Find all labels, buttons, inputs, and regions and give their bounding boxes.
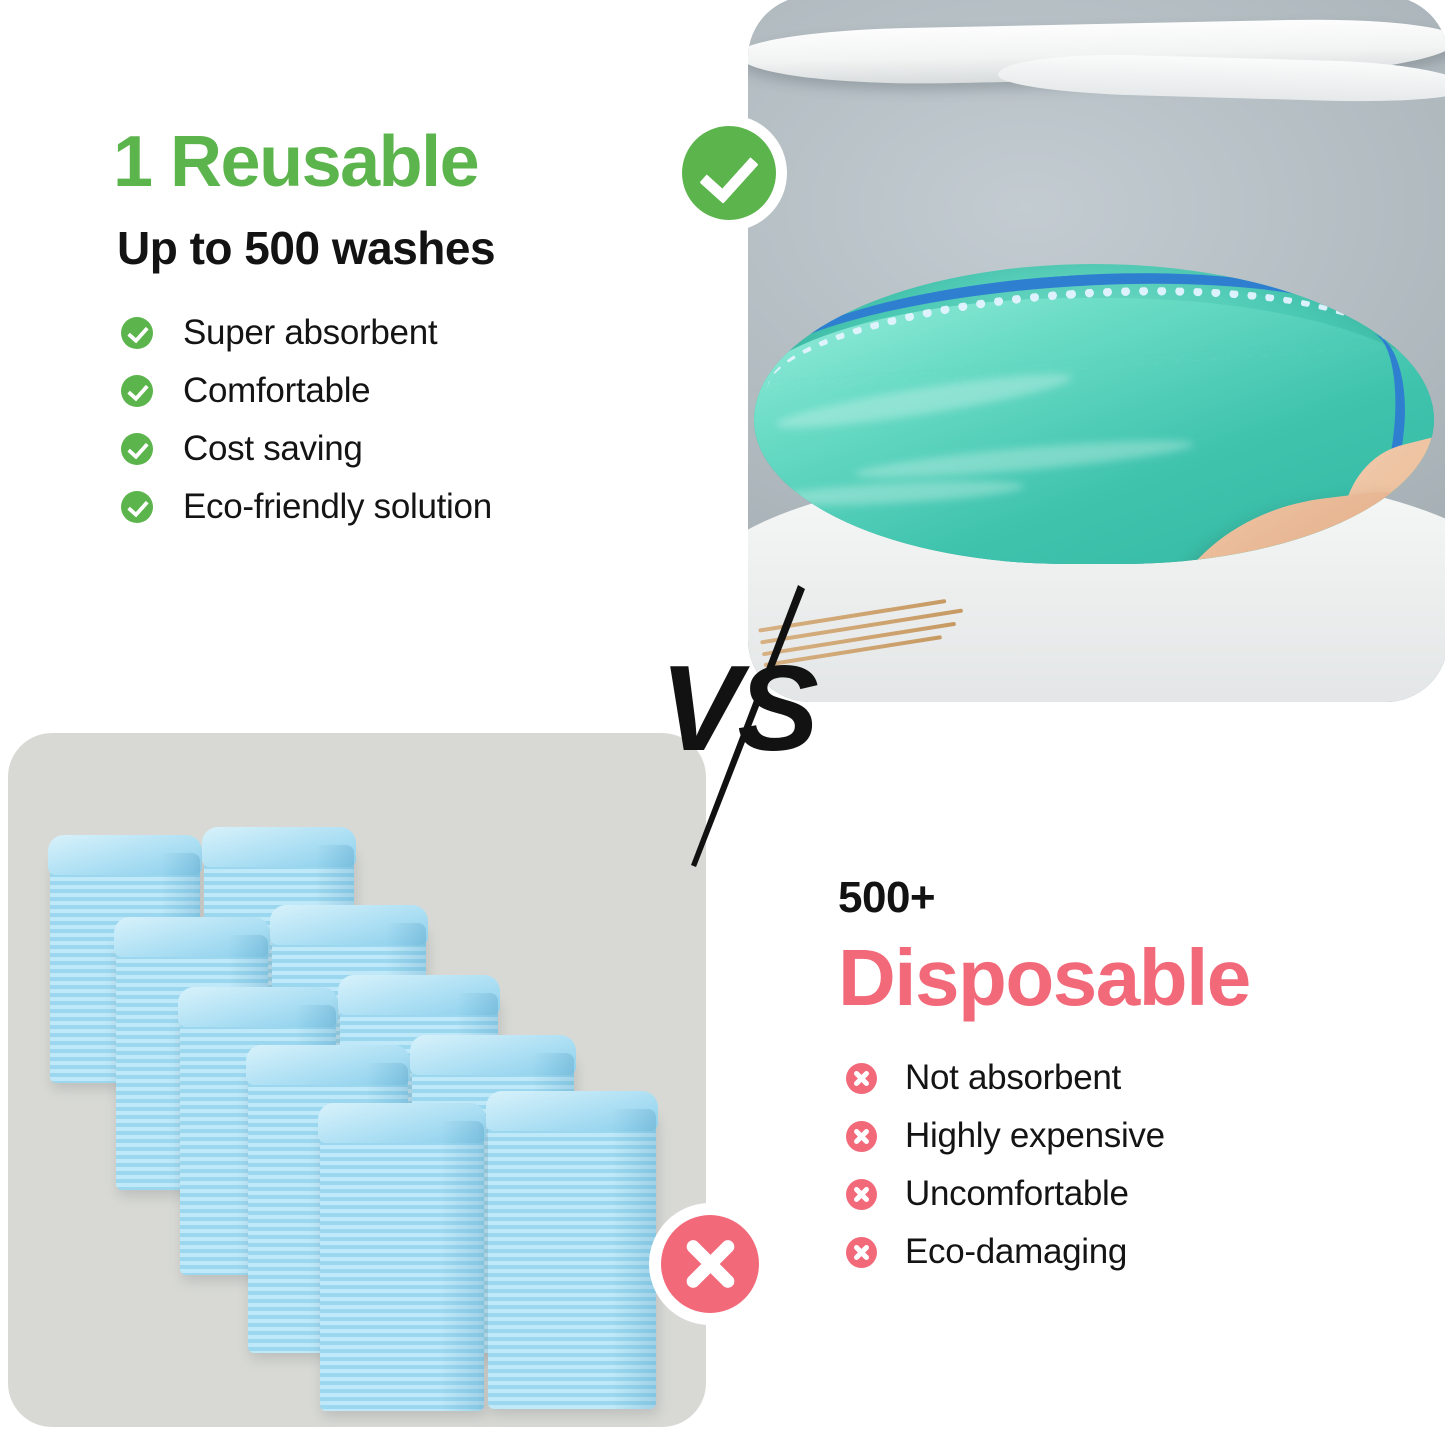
check-icon (121, 433, 153, 465)
feature-label: Eco-friendly solution (183, 487, 492, 527)
disposable-product-photo (8, 733, 706, 1427)
reusable-product-photo (748, 0, 1445, 702)
reusable-subtitle: Up to 500 washes (117, 225, 673, 271)
reusable-title: 1 Reusable (113, 126, 673, 198)
list-item: Super absorbent (121, 315, 673, 351)
drawback-label: Highly expensive (905, 1116, 1165, 1156)
reusable-section: 1 Reusable Up to 500 washes Super absorb… (113, 126, 673, 547)
drawback-label: Uncomfortable (905, 1174, 1129, 1214)
list-item: Uncomfortable (846, 1176, 1398, 1212)
check-icon (121, 491, 153, 523)
drawback-label: Eco-damaging (905, 1232, 1127, 1272)
vs-label: VS (660, 647, 815, 769)
disposable-drawback-list: Not absorbent Highly expensive Uncomfort… (846, 1060, 1398, 1270)
list-item: Not absorbent (846, 1060, 1398, 1096)
feature-label: Super absorbent (183, 313, 437, 353)
drawback-label: Not absorbent (905, 1058, 1121, 1098)
pad-fold (764, 476, 1025, 510)
pad-stack (320, 1121, 484, 1411)
list-item: Comfortable (121, 373, 673, 409)
disposable-title: Disposable (838, 938, 1398, 1018)
x-circle-icon (661, 1215, 759, 1313)
drum-opening (754, 264, 1434, 564)
x-icon (846, 1237, 877, 1268)
feature-label: Comfortable (183, 371, 370, 411)
check-icon (121, 375, 153, 407)
pad-stack (488, 1109, 656, 1409)
vs-divider: VS (648, 585, 828, 875)
feature-label: Cost saving (183, 429, 363, 469)
list-item: Eco-friendly solution (121, 489, 673, 525)
x-icon (846, 1063, 877, 1094)
pad-fold (854, 433, 1195, 485)
x-icon (846, 1179, 877, 1210)
disposable-pad-stacks (8, 733, 706, 1427)
check-icon (121, 317, 153, 349)
list-item: Cost saving (121, 431, 673, 467)
comparison-infographic: VS 1 Reusable Up to 500 washes Super abs… (0, 0, 1445, 1433)
disposable-section: 500+ Disposable Not absorbent Highly exp… (838, 876, 1398, 1292)
list-item: Eco-damaging (846, 1234, 1398, 1270)
reusable-feature-list: Super absorbent Comfortable Cost saving … (121, 315, 673, 525)
list-item: Highly expensive (846, 1118, 1398, 1154)
disposable-count: 500+ (838, 876, 1398, 920)
x-icon (846, 1121, 877, 1152)
check-circle-icon (682, 126, 776, 220)
